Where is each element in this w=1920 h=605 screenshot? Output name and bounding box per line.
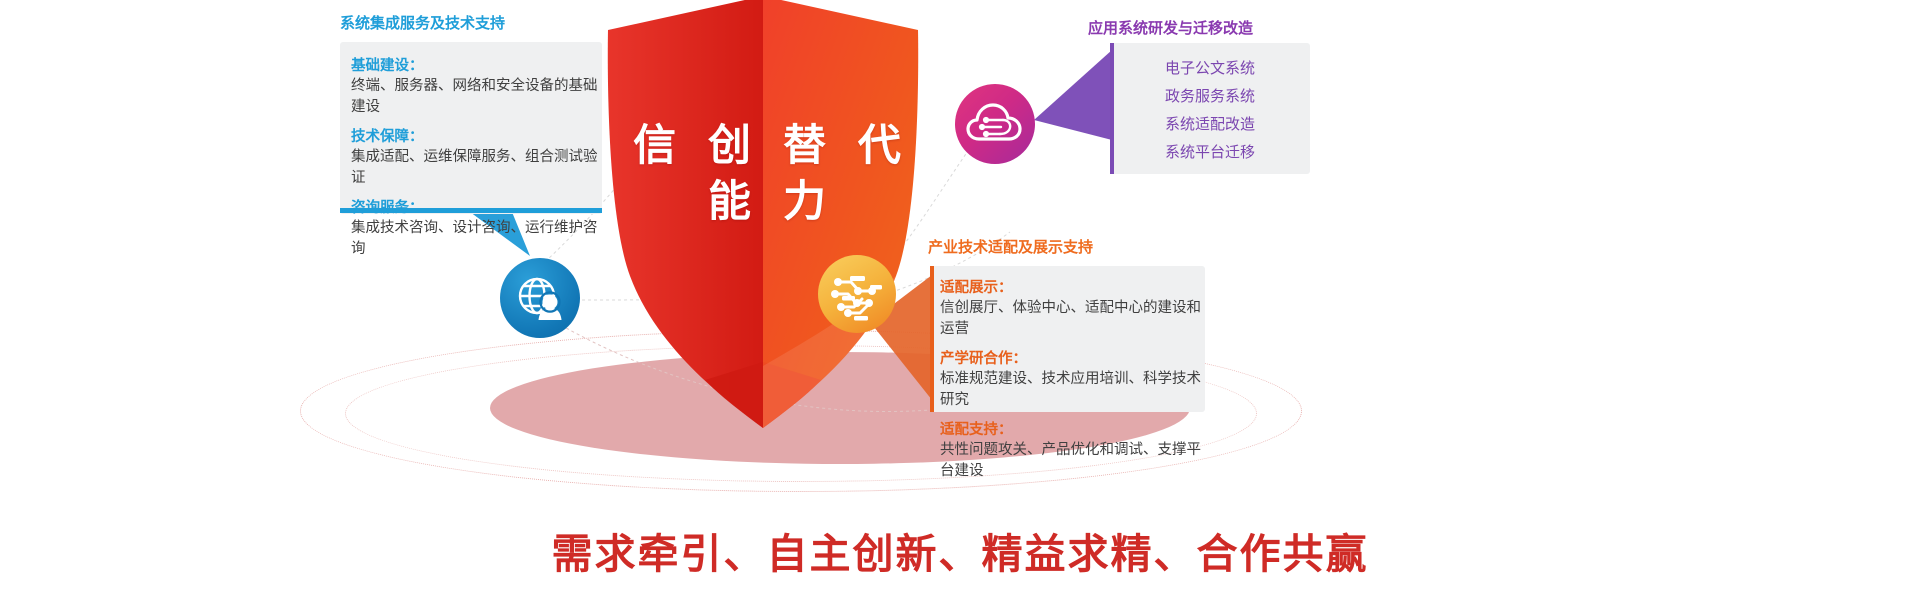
panel-title-integration: 系统集成服务及技术支持 [340, 12, 505, 33]
group-body: 集成适配、运维保障服务、组合测试验证 [351, 147, 602, 189]
globe-user-icon[interactable] [500, 258, 580, 338]
slogan-text: 需求牵引、自主创新、精益求精、合作共赢 [0, 520, 1920, 580]
panel-integration-underline [340, 208, 602, 213]
group-heading: 基础建设： [351, 56, 602, 76]
panel-group: 基础建设： 终端、服务器、网络和安全设备的基础建设 [351, 56, 602, 118]
group-body: 集成技术咨询、设计咨询、运行维护咨询 [351, 218, 602, 260]
panel-title-application: 应用系统研发与迁移改造 [1088, 17, 1253, 38]
shield-graphic [600, 0, 930, 466]
list-item: 系统平台迁移 [1110, 139, 1310, 167]
group-heading: 适配展示： [940, 278, 1205, 298]
panel-group: 适配展示： 信创展厅、体验中心、适配中心的建设和运营 [940, 278, 1205, 340]
panel-application-accent-bar [1110, 43, 1114, 174]
group-heading: 产学研合作： [940, 349, 1205, 369]
panel-industry-accent-bar [930, 266, 934, 412]
panel-integration[interactable]: 基础建设： 终端、服务器、网络和安全设备的基础建设 技术保障： 集成适配、运维保… [340, 42, 602, 214]
shield-title-line2: 能 力 [612, 174, 922, 230]
panel-group: 适配支持： 共性问题攻关、产品优化和调试、支撑平台建设 [940, 420, 1205, 482]
list-item: 系统适配改造 [1110, 111, 1310, 139]
shield-title-line1: 信 创 替 代 [633, 122, 911, 170]
group-body: 共性问题攻关、产品优化和调试、支撑平台建设 [940, 440, 1205, 482]
infographic-canvas: 信 创 替 代 能 力 系统集成服务及技术支持 基础建设： 终端、服务器、网络和… [0, 0, 1920, 605]
group-heading: 技术保障： [351, 127, 602, 147]
panel-group: 产学研合作： 标准规范建设、技术应用培训、科学技术研究 [940, 349, 1205, 411]
shield-title: 信 创 替 代 能 力 [612, 118, 922, 230]
panel-industry[interactable]: 适配展示： 信创展厅、体验中心、适配中心的建设和运营 产学研合作： 标准规范建设… [930, 266, 1205, 412]
list-item: 电子公文系统 [1110, 55, 1310, 83]
panel-group: 技术保障： 集成适配、运维保障服务、组合测试验证 [351, 127, 602, 189]
panel-application[interactable]: 电子公文系统 政务服务系统 系统适配改造 系统平台迁移 [1110, 43, 1310, 174]
list-item: 政务服务系统 [1110, 83, 1310, 111]
panel-title-industry: 产业技术适配及展示支持 [928, 236, 1093, 257]
circuit-chip-icon[interactable] [818, 255, 896, 333]
group-body: 标准规范建设、技术应用培训、科学技术研究 [940, 369, 1205, 411]
cloud-network-icon[interactable] [955, 84, 1035, 164]
group-heading: 适配支持： [940, 420, 1205, 440]
group-body: 信创展厅、体验中心、适配中心的建设和运营 [940, 298, 1205, 340]
group-body: 终端、服务器、网络和安全设备的基础建设 [351, 76, 602, 118]
